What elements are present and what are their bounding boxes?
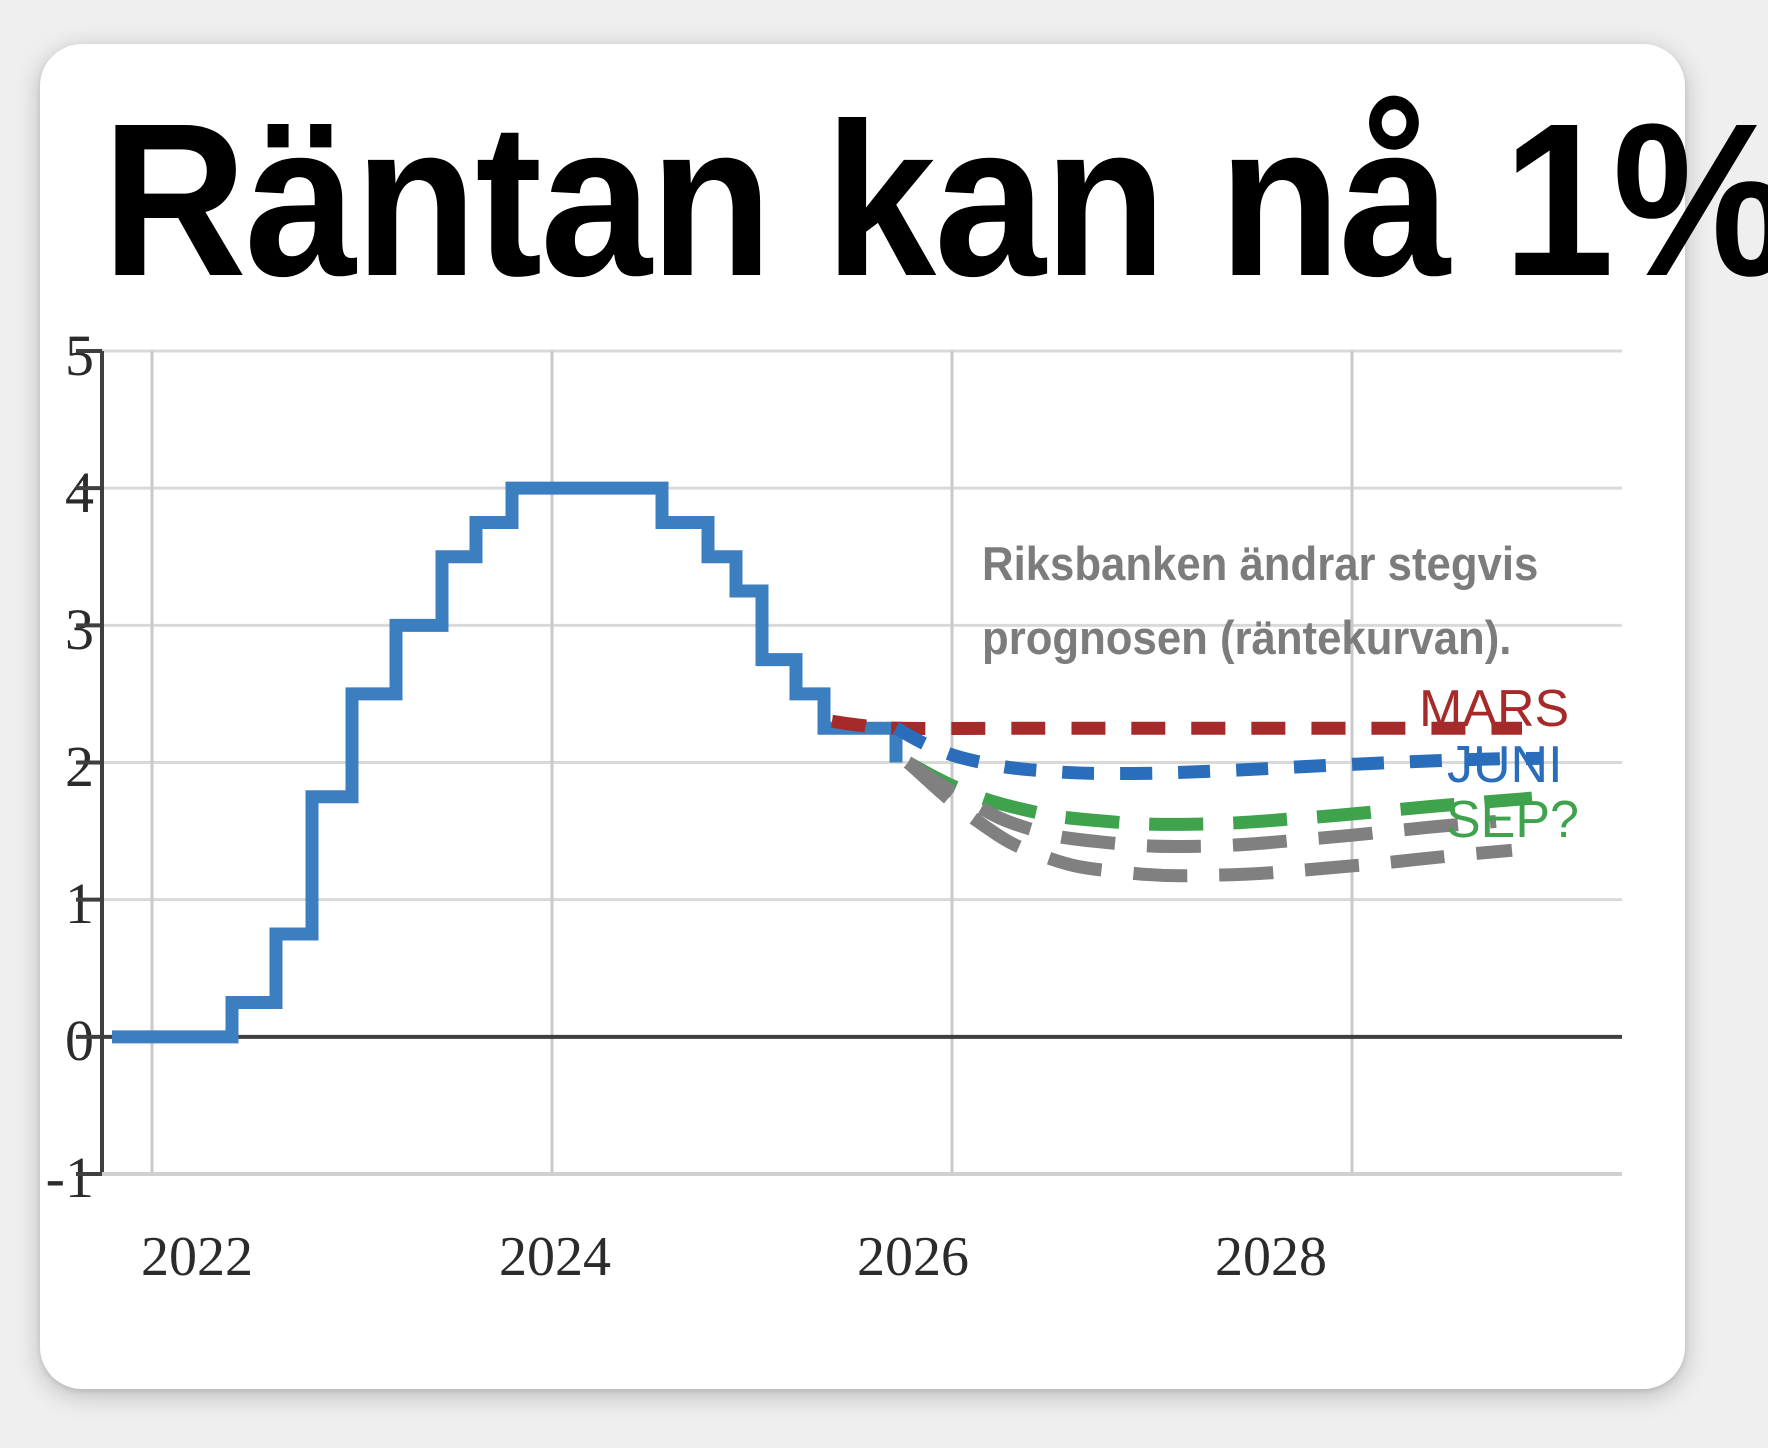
series-label-mars: MARS	[1419, 683, 1569, 735]
y-tick-label-5: 5	[0, 327, 94, 385]
plot-area	[102, 289, 1622, 1329]
interest-rate-chart: 5 4 3 2 1 0 -1 2022 2024 2026 2028 Riksb…	[102, 289, 1622, 1329]
series-label-juni: JUNI	[1447, 739, 1563, 791]
y-tick-label-0: 0	[0, 1012, 94, 1070]
grid-lines	[102, 351, 1622, 1174]
page-title: Räntan kan nå 1%	[102, 86, 1510, 316]
annotation-text: Riksbanken ändrar stegvis prognosen (rän…	[982, 527, 1466, 675]
screenshot-root: Räntan kan nå 1% 5 4 3 2 1 0 -1 2022 202…	[0, 0, 1768, 1448]
series-label-sep: SEP?	[1446, 794, 1579, 846]
y-tick-label-2: 2	[0, 738, 94, 796]
annotation-line-2: prognosen (räntekurvan).	[982, 601, 1466, 675]
y-tick-label-neg1: -1	[0, 1149, 94, 1207]
y-tick-label-4: 4	[0, 464, 94, 522]
annotation-line-1: Riksbanken ändrar stegvis	[982, 527, 1466, 601]
chart-card: Räntan kan nå 1% 5 4 3 2 1 0 -1 2022 202…	[40, 44, 1685, 1389]
y-tick-label-3: 3	[0, 601, 94, 659]
y-tick-label-1: 1	[0, 875, 94, 933]
